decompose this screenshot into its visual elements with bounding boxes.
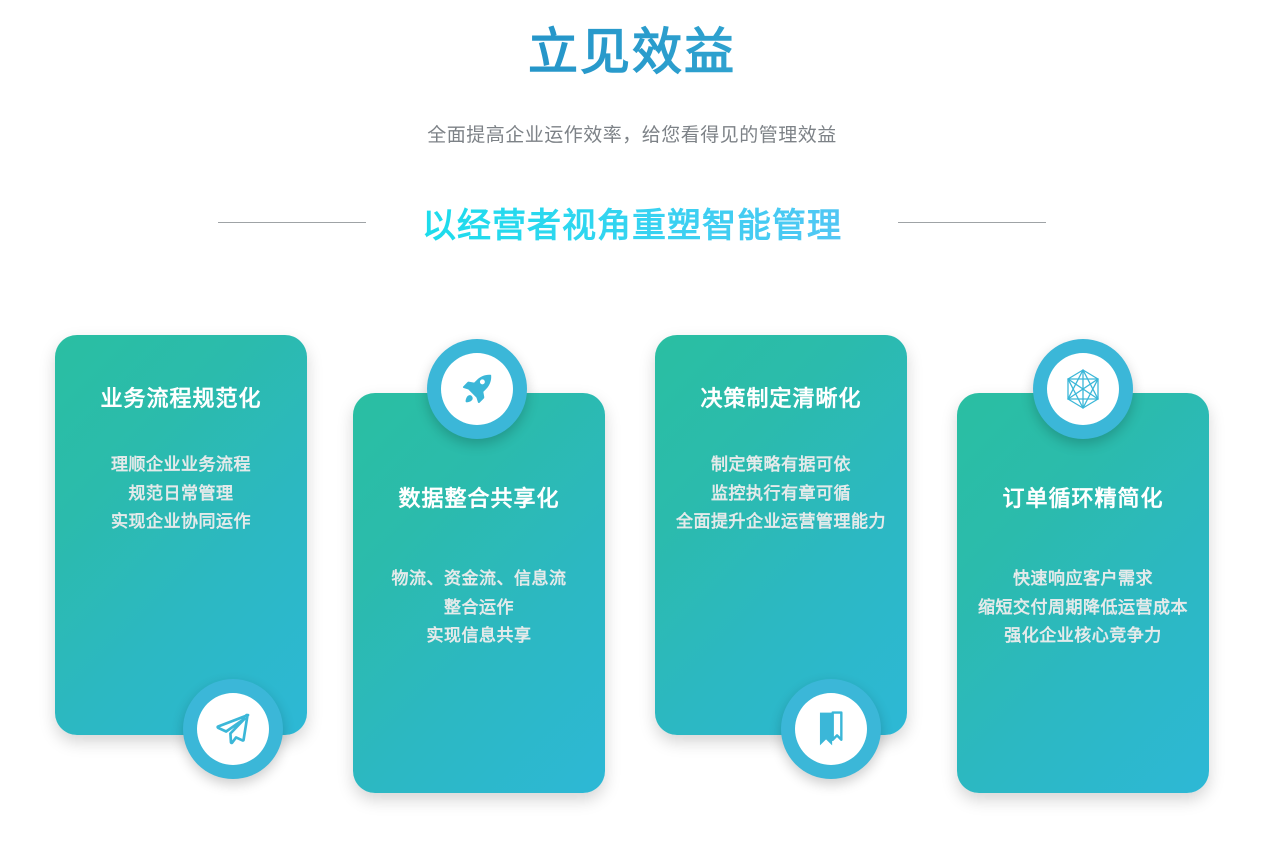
benefit-card-line: 监控执行有章可循 — [667, 480, 895, 509]
badge-inner-circle — [197, 693, 269, 765]
benefit-card-line: 快速响应客户需求 — [969, 565, 1197, 594]
badge-inner-circle — [1047, 353, 1119, 425]
benefit-card-title: 订单循环精简化 — [957, 481, 1209, 513]
benefit-card-3[interactable]: 决策制定清晰化 制定策略有据可依 监控执行有章可循 全面提升企业运营管理能力 — [655, 335, 907, 735]
benefit-card-title: 决策制定清晰化 — [655, 381, 907, 413]
benefit-card-badge[interactable] — [183, 679, 283, 779]
hexagon-network-icon — [1063, 368, 1103, 410]
benefit-card-line: 强化企业核心竞争力 — [969, 622, 1197, 651]
badge-inner-circle — [795, 693, 867, 765]
rocket-icon — [458, 370, 496, 408]
benefit-card-line: 规范日常管理 — [67, 480, 295, 509]
benefit-card-line: 制定策略有据可依 — [667, 451, 895, 480]
benefit-card-line: 全面提升企业运营管理能力 — [667, 508, 895, 537]
benefit-card-line: 理顺企业业务流程 — [67, 451, 295, 480]
benefits-page: 立见效益 全面提高企业运作效率，给您看得见的管理效益 以经营者视角重塑智能管理 … — [0, 0, 1264, 859]
benefit-card-line: 缩短交付周期降低运营成本 — [969, 594, 1197, 623]
benefit-card-badge[interactable] — [781, 679, 881, 779]
benefit-card-4[interactable]: 订单循环精简化 快速响应客户需求 缩短交付周期降低运营成本 强化企业核心竞争力 — [957, 393, 1209, 793]
benefit-card-line: 实现信息共享 — [365, 622, 593, 651]
benefit-card-line: 物流、资金流、信息流 — [365, 565, 593, 594]
benefit-card-body: 制定策略有据可依 监控执行有章可循 全面提升企业运营管理能力 — [655, 451, 907, 537]
benefit-card-title: 数据整合共享化 — [353, 481, 605, 513]
benefit-card-line: 实现企业协同运作 — [67, 508, 295, 537]
paper-plane-icon — [214, 710, 252, 748]
benefit-card-line: 整合运作 — [365, 594, 593, 623]
benefit-card-badge[interactable] — [1033, 339, 1133, 439]
benefit-card-body: 理顺企业业务流程 规范日常管理 实现企业协同运作 — [55, 451, 307, 537]
benefit-card-body: 快速响应客户需求 缩短交付周期降低运营成本 强化企业核心竞争力 — [957, 565, 1209, 651]
benefit-card-title: 业务流程规范化 — [55, 381, 307, 413]
benefit-card-2[interactable]: 数据整合共享化 物流、资金流、信息流 整合运作 实现信息共享 — [353, 393, 605, 793]
benefit-card-1[interactable]: 业务流程规范化 理顺企业业务流程 规范日常管理 实现企业协同运作 — [55, 335, 307, 735]
bookmark-icon — [814, 710, 848, 748]
benefit-card-badge[interactable] — [427, 339, 527, 439]
badge-inner-circle — [441, 353, 513, 425]
benefit-card-body: 物流、资金流、信息流 整合运作 实现信息共享 — [353, 565, 605, 651]
benefit-card-list: 业务流程规范化 理顺企业业务流程 规范日常管理 实现企业协同运作 — [0, 0, 1264, 859]
